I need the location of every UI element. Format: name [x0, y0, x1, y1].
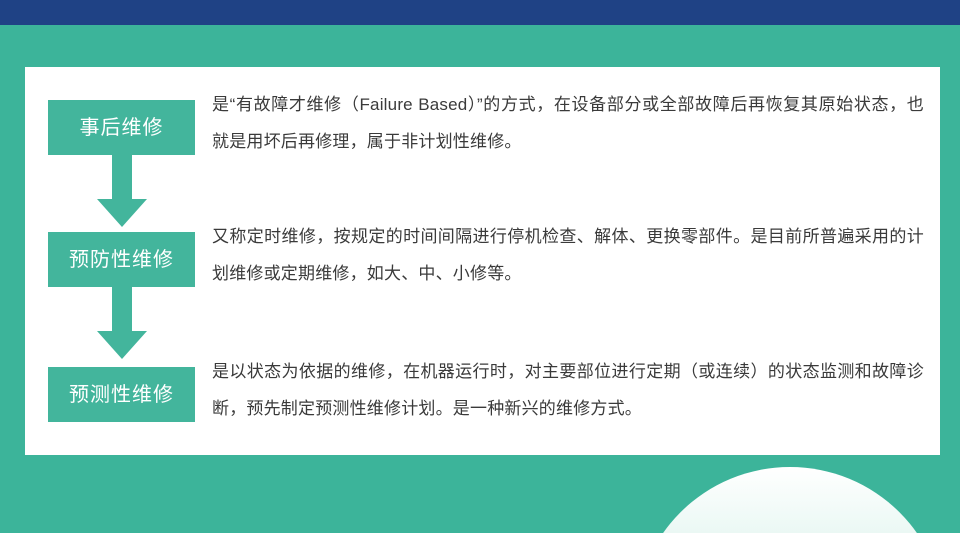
content-panel: 事后维修 是“有故障才维修（Failure Based）”的方式，在设备部分或全…: [25, 67, 940, 455]
flow-step-2-description: 又称定时维修，按规定的时间间隔进行停机检查、解体、更换零部件。是目前所普遍采用的…: [212, 218, 924, 292]
flow-step-3-label-box[interactable]: 预测性维修: [48, 367, 195, 422]
flow-step-1: 事后维修 是“有故障才维修（Failure Based）”的方式，在设备部分或全…: [25, 100, 940, 155]
flow-step-1-label-box[interactable]: 事后维修: [48, 100, 195, 155]
arrow-head: [97, 331, 147, 359]
flow-step-2-label: 预防性维修: [69, 250, 174, 270]
flow-step-1-description: 是“有故障才维修（Failure Based）”的方式，在设备部分或全部故障后再…: [212, 86, 924, 160]
flow-step-2: 预防性维修 又称定时维修，按规定的时间间隔进行停机检查、解体、更换零部件。是目前…: [25, 232, 940, 287]
flow-step-3: 预测性维修 是以状态为依据的维修，在机器运行时，对主要部位进行定期（或连续）的状…: [25, 367, 940, 422]
flow-step-2-label-box[interactable]: 预防性维修: [48, 232, 195, 287]
arrow-down-icon-2: [97, 287, 147, 359]
arrow-head: [97, 199, 147, 227]
arrow-stem: [112, 155, 132, 201]
arrow-stem: [112, 287, 132, 333]
flow-step-3-description: 是以状态为依据的维修，在机器运行时，对主要部位进行定期（或连续）的状态监测和故障…: [212, 353, 924, 427]
flow-step-1-label: 事后维修: [80, 118, 164, 138]
top-accent-bar: [0, 0, 960, 25]
arrow-down-icon-1: [97, 155, 147, 227]
decorative-circle: [635, 467, 945, 533]
flow-step-3-label: 预测性维修: [69, 385, 174, 405]
slide-canvas: 事后维修 是“有故障才维修（Failure Based）”的方式，在设备部分或全…: [0, 0, 960, 533]
